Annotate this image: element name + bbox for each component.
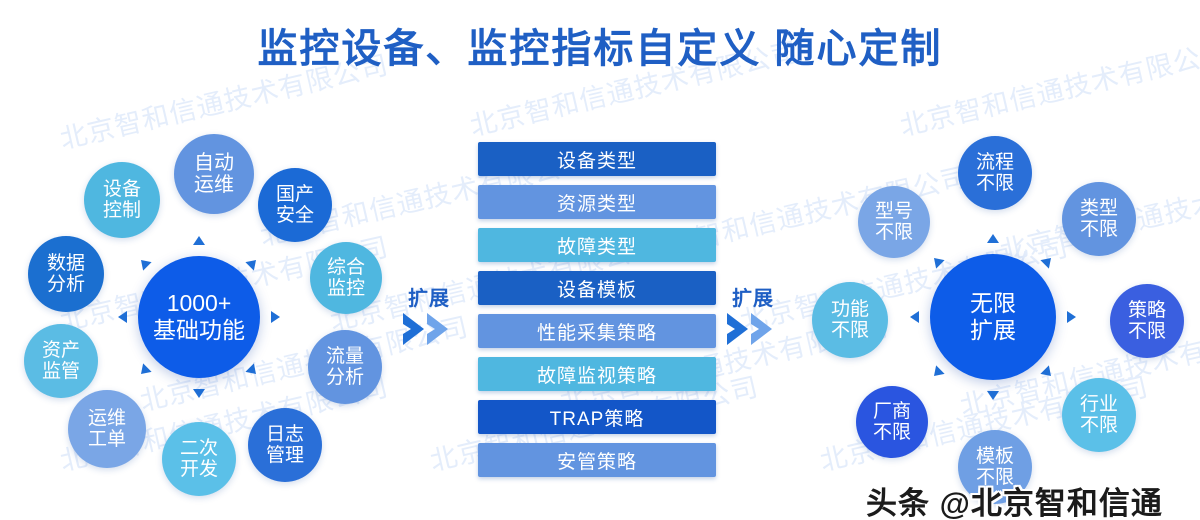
- pointer-triangle-icon: [193, 389, 205, 407]
- bubble-label-line2: 不限: [1080, 219, 1118, 240]
- center-bar[interactable]: TRAP策略: [478, 400, 716, 434]
- chevron-right-icon: [750, 312, 776, 346]
- pointer-triangle-icon: [1041, 365, 1062, 386]
- bubble-label-line2: 监控: [327, 278, 365, 299]
- bubble-label-line1: 行业: [1080, 394, 1118, 415]
- center-bar-label: 安管策略: [557, 447, 637, 474]
- expand-label: 扩展: [408, 282, 450, 311]
- bubble-label-line1: 类型: [1080, 198, 1118, 219]
- center-bar[interactable]: 性能采集策略: [478, 314, 716, 348]
- bubble-label-line2: 不限: [875, 222, 913, 243]
- bubble-label-line2: 不限: [831, 320, 869, 341]
- center-bar-label: 故障类型: [557, 232, 637, 259]
- bubble-label-line1: 国产: [276, 184, 314, 205]
- pointer-triangle-icon: [193, 227, 205, 245]
- center-bar-label: 设备模板: [557, 275, 637, 302]
- left-cluster-bubble[interactable]: 资产监管: [24, 324, 98, 398]
- bubble-label-line1: 自动: [194, 152, 234, 174]
- bubble-label-line1: 厂商: [873, 401, 911, 422]
- center-bar[interactable]: 安管策略: [478, 443, 716, 477]
- bubble-label-line1: 综合: [327, 257, 365, 278]
- bubble-label-line1: 功能: [831, 299, 869, 320]
- expand-arrow-group: 扩展: [726, 282, 790, 352]
- pointer-triangle-icon: [131, 249, 152, 270]
- pointer-triangle-icon: [245, 249, 266, 270]
- center-bar[interactable]: 故障类型: [478, 228, 716, 262]
- right-cluster-bubble[interactable]: 功能不限: [812, 282, 888, 358]
- chevron-right-icon: [726, 312, 752, 346]
- bubble-label-line2: 分析: [326, 367, 364, 388]
- infographic-canvas: 北京智和信通技术有限公司北京智和信通技术有限公司北京智和信通技术有限公司北京智和…: [0, 0, 1200, 520]
- right-cluster-bubble[interactable]: 流程不限: [958, 136, 1032, 210]
- pointer-triangle-icon: [987, 225, 999, 243]
- center-bar-stack: 设备类型资源类型故障类型设备模板性能采集策略故障监视策略TRAP策略安管策略: [478, 142, 716, 486]
- center-bar[interactable]: 设备模板: [478, 271, 716, 305]
- center-bar-label: 性能采集策略: [537, 318, 657, 345]
- left-cluster-bubble[interactable]: 设备控制: [84, 162, 160, 238]
- bubble-label-line1: 型号: [875, 201, 913, 222]
- chevron-right-icon: [426, 312, 452, 346]
- pointer-triangle-icon: [271, 311, 289, 323]
- bubble-label-line2: 不限: [976, 173, 1014, 194]
- hub-label-line2: 扩展: [970, 317, 1016, 344]
- left-cluster-bubble[interactable]: 流量分析: [308, 330, 382, 404]
- left-cluster-bubble[interactable]: 日志管理: [248, 408, 322, 482]
- pointer-triangle-icon: [901, 311, 919, 323]
- bubble-label-line1: 模板: [976, 446, 1014, 467]
- right-cluster-bubble[interactable]: 型号不限: [858, 186, 930, 258]
- bubble-label-line1: 策略: [1128, 300, 1166, 321]
- bubble-label-line2: 运维: [194, 174, 234, 196]
- center-bar-label: 资源类型: [557, 189, 637, 216]
- right-cluster-bubble[interactable]: 策略不限: [1110, 284, 1184, 358]
- bubble-label-line2: 监管: [42, 361, 80, 382]
- left-cluster-bubble[interactable]: 综合监控: [310, 242, 382, 314]
- chevron-right-icon: [402, 312, 428, 346]
- bubble-label-line2: 控制: [103, 200, 141, 221]
- left-cluster-bubble[interactable]: 二次开发: [162, 422, 236, 496]
- bubble-label-line1: 设备: [103, 179, 141, 200]
- hub-label-line1: 1000+: [167, 290, 232, 317]
- right-cluster-bubble[interactable]: 行业不限: [1062, 378, 1136, 452]
- center-bar-label: 故障监视策略: [537, 361, 657, 388]
- bubble-label-line2: 不限: [1128, 321, 1166, 342]
- hub-label-line2: 基础功能: [153, 317, 245, 344]
- bubble-label-line2: 管理: [266, 445, 304, 466]
- bubble-label-line2: 工单: [88, 429, 126, 450]
- pointer-triangle-icon: [923, 248, 944, 269]
- bubble-label-line1: 资产: [42, 340, 80, 361]
- bubble-label-line1: 日志: [266, 424, 304, 445]
- left-cluster-bubble[interactable]: 自动运维: [174, 134, 254, 214]
- left-cluster-bubble[interactable]: 数据分析: [28, 236, 104, 312]
- center-bar[interactable]: 设备类型: [478, 142, 716, 176]
- bubble-label-line2: 安全: [276, 205, 314, 226]
- bubble-label-line2: 不限: [1080, 415, 1118, 436]
- bubble-label-line2: 不限: [873, 422, 911, 443]
- pointer-triangle-icon: [245, 364, 266, 385]
- bubble-label-line1: 运维: [88, 408, 126, 429]
- hub-label-line1: 无限: [970, 290, 1016, 317]
- pointer-triangle-icon: [1041, 248, 1062, 269]
- center-bar-label: 设备类型: [557, 146, 637, 173]
- page-title: 监控设备、监控指标自定义 随心定制: [0, 16, 1200, 74]
- right-cluster-bubble[interactable]: 类型不限: [1062, 182, 1136, 256]
- right-cluster-bubble[interactable]: 厂商不限: [856, 386, 928, 458]
- expand-arrow-group: 扩展: [402, 282, 466, 352]
- expand-label: 扩展: [732, 282, 774, 311]
- center-bar[interactable]: 故障监视策略: [478, 357, 716, 391]
- bubble-label-line1: 流量: [326, 346, 364, 367]
- bubble-label-line1: 数据: [47, 253, 85, 274]
- left-hub[interactable]: 1000+基础功能: [138, 256, 260, 378]
- bubble-label-line1: 流程: [976, 152, 1014, 173]
- left-cluster-bubble[interactable]: 国产安全: [258, 168, 332, 242]
- pointer-triangle-icon: [131, 364, 152, 385]
- bubble-label-line2: 开发: [180, 459, 218, 480]
- right-hub[interactable]: 无限扩展: [930, 254, 1056, 380]
- left-cluster-bubble[interactable]: 运维工单: [68, 390, 146, 468]
- pointer-triangle-icon: [109, 311, 127, 323]
- pointer-triangle-icon: [987, 391, 999, 409]
- center-bar[interactable]: 资源类型: [478, 185, 716, 219]
- bubble-label-line2: 分析: [47, 274, 85, 295]
- center-bar-label: TRAP策略: [550, 404, 645, 431]
- pointer-triangle-icon: [923, 365, 944, 386]
- brand-watermark: 头条 @北京智和信通: [866, 478, 1163, 520]
- pointer-triangle-icon: [1067, 311, 1085, 323]
- bubble-label-line1: 二次: [180, 438, 218, 459]
